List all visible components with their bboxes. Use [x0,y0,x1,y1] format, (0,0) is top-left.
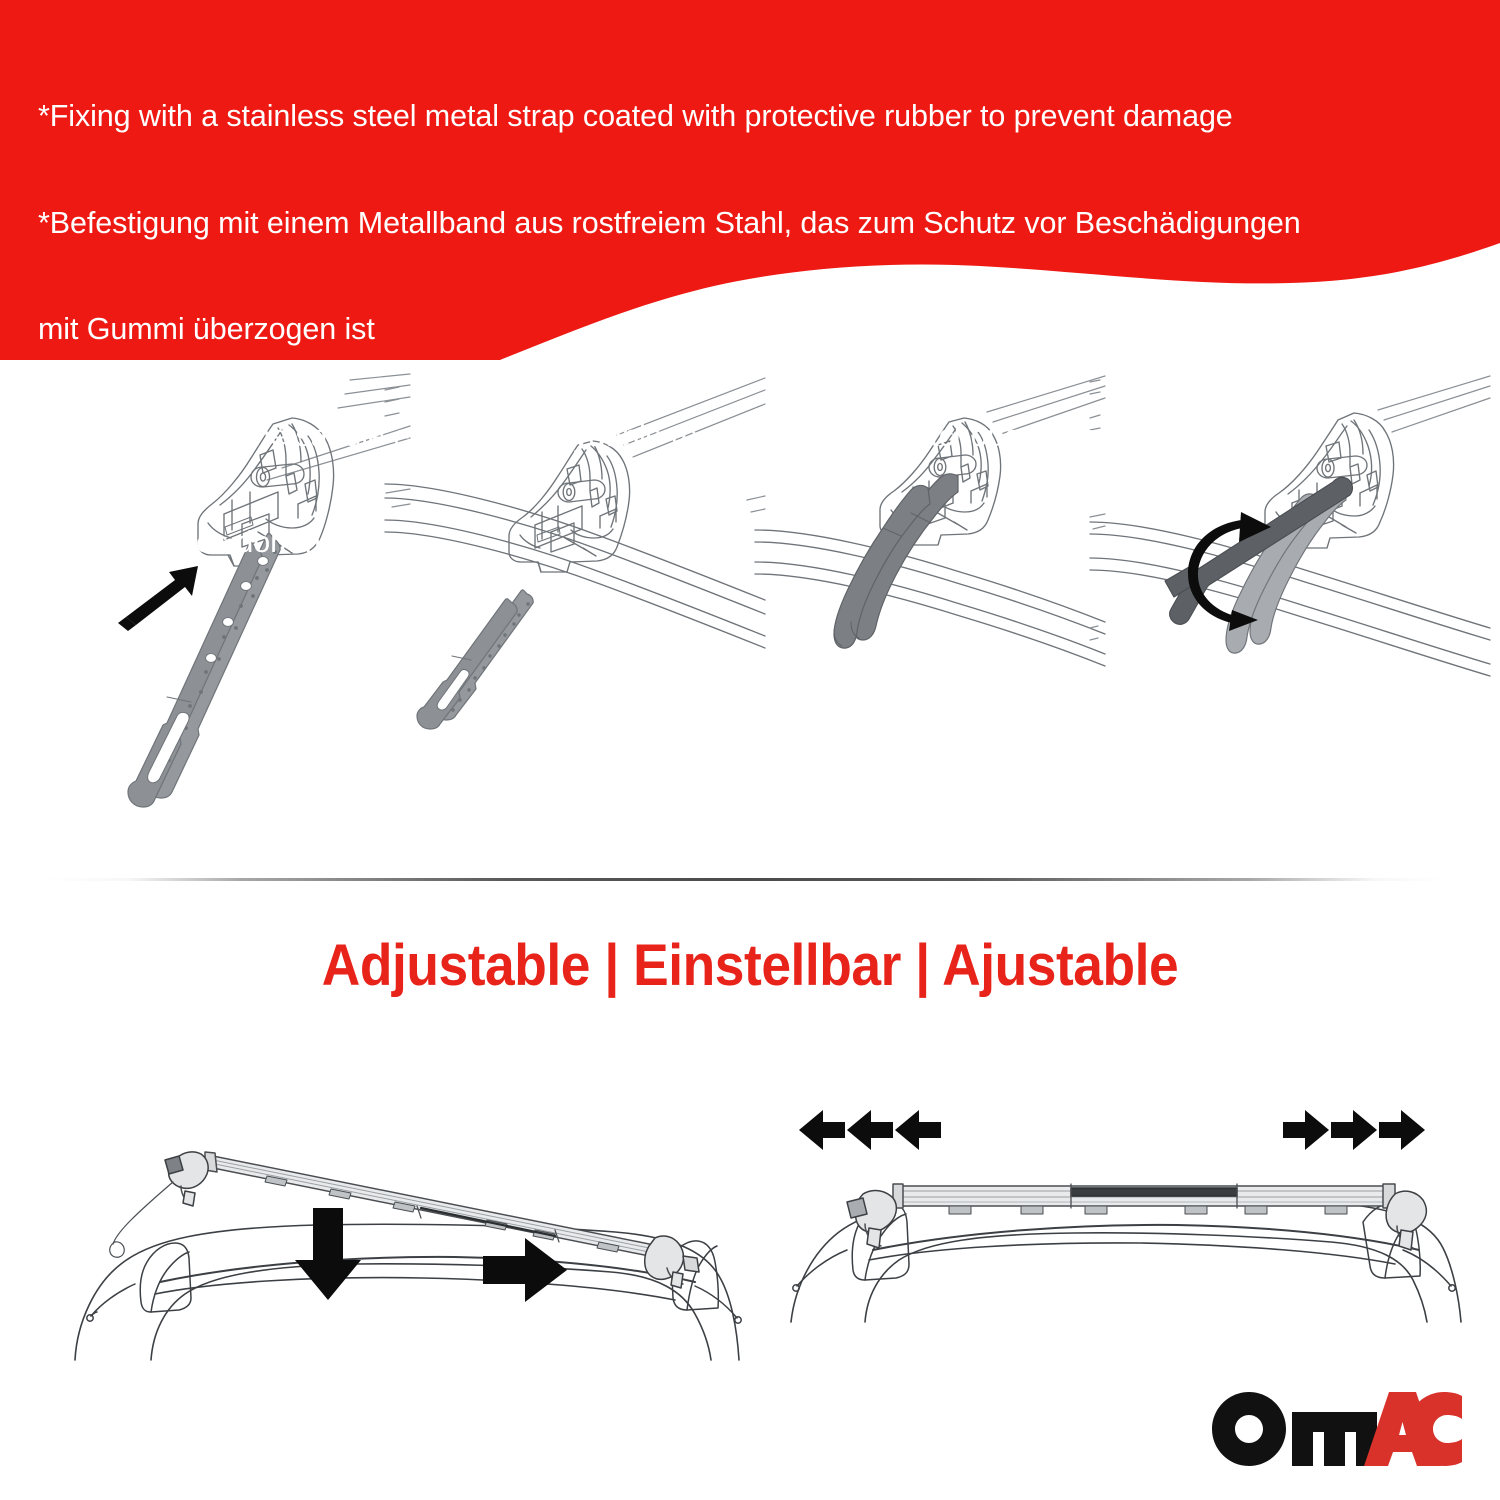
banner-line-fr-1: *Fixation avec une sangle en métal inoxy… [38,419,1458,455]
banner-line-de-1: *Befestigung mit einem Metallband aus ro… [38,206,1458,242]
triple-arrow-left-icon [799,1110,941,1150]
product-infographic: *Fixing with a stainless steel metal str… [0,0,1500,1500]
logo-letter-m [1292,1412,1377,1466]
crossbar-lowering-diagram [55,1060,755,1390]
banner-line-fr-2: pour éviter les dommages. [38,525,1458,561]
triple-arrow-right-icon [1283,1110,1425,1150]
banner-line-de-2: mit Gummi überzogen ist [38,312,1458,348]
red-wave-banner: *Fixing with a stainless steel metal str… [0,0,1500,360]
adjustable-heading: Adjustable | Einstellbar | Ajustable [60,932,1440,999]
omac-logo [1212,1392,1462,1466]
section-divider [45,878,1445,881]
banner-line-en-1: *Fixing with a stainless steel metal str… [38,99,1458,135]
logo-letter-o [1212,1392,1286,1466]
banner-text-block: *Fixing with a stainless steel metal str… [38,28,1458,632]
adjustable-diagrams-row [0,1060,1500,1390]
arrow-down-icon [295,1208,361,1300]
arrow-right-icon [483,1238,567,1302]
crossbar-width-adjust-diagram [785,1060,1465,1390]
